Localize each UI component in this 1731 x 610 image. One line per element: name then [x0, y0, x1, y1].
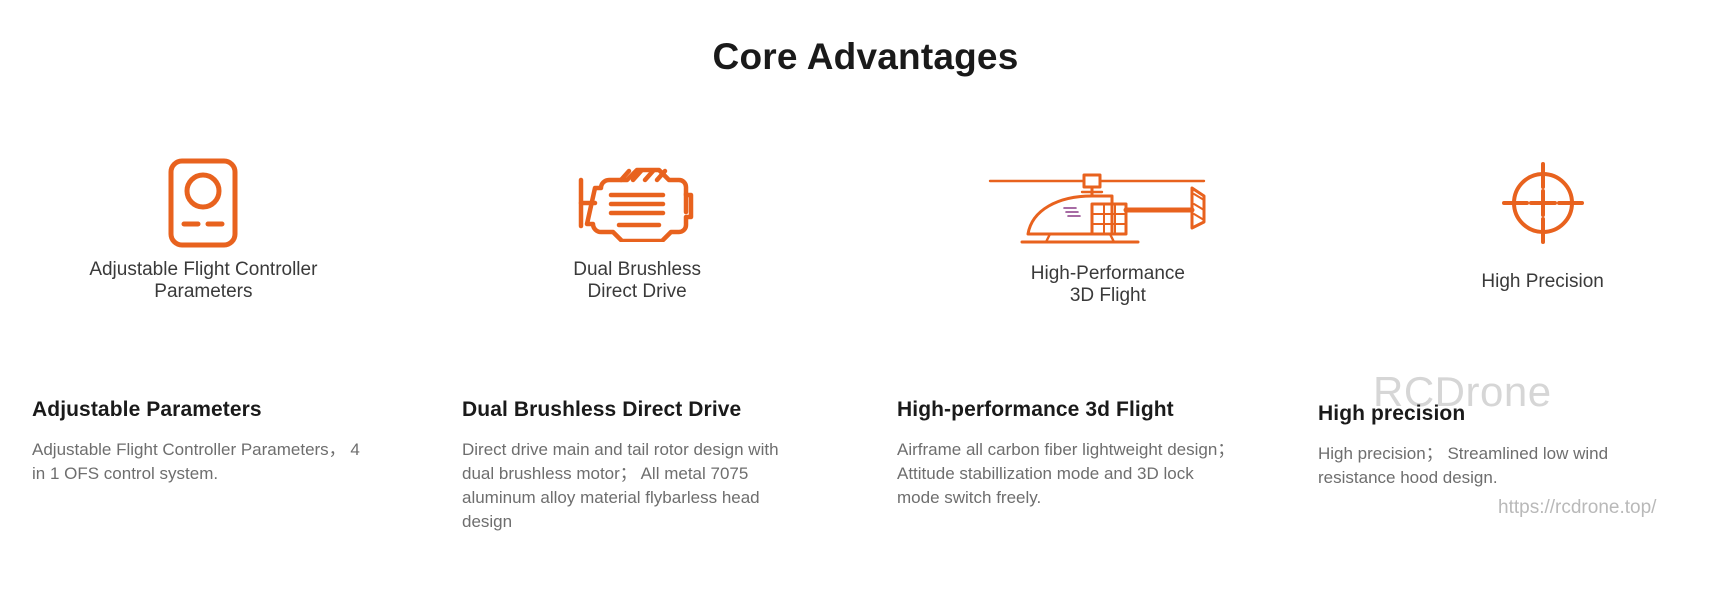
core-advantages-section: Core Advantages Adjustable Flight Contro…: [0, 0, 1731, 610]
icon-cell-high-precision: High Precision: [1326, 160, 1731, 320]
icon-cell-brushless-motor: Dual Brushless Direct Drive: [421, 160, 854, 320]
icon-cell-helicopter: High-Performance 3D Flight: [892, 160, 1325, 320]
feature-title: High precision: [1318, 402, 1668, 426]
feature-high-precision: High precision High precision； Streamlin…: [1296, 398, 1728, 535]
icon-cell-flight-controller: Adjustable Flight Controller Parameters: [0, 160, 420, 320]
feature-adjustable-parameters: Adjustable Parameters Adjustable Flight …: [0, 398, 432, 535]
icon-row: Adjustable Flight Controller Parameters: [0, 160, 1731, 320]
feature-body: High precision； Streamlined low wind res…: [1318, 442, 1668, 490]
feature-title: High-performance 3d Flight: [897, 398, 1236, 422]
feature-title: Dual Brushless Direct Drive: [462, 398, 804, 422]
icon-caption-high-precision: High Precision: [1481, 271, 1604, 293]
feature-title: Adjustable Parameters: [32, 398, 372, 422]
icon-caption-helicopter: High-Performance 3D Flight: [1031, 263, 1185, 307]
feature-body: Adjustable Flight Controller Parameters，…: [32, 438, 372, 486]
feature-high-performance-3d-flight: High-performance 3d Flight Airframe all …: [864, 398, 1296, 535]
helicopter-icon: [988, 160, 1228, 245]
crosshair-target-icon: [1501, 160, 1585, 245]
brushless-motor-icon: [573, 160, 701, 245]
feature-body: Direct drive main and tail rotor design …: [462, 438, 804, 535]
feature-body: Airframe all carbon fiber lightweight de…: [897, 438, 1236, 510]
feature-dual-brushless-direct-drive: Dual Brushless Direct Drive Direct drive…: [432, 398, 864, 535]
icon-caption-brushless-motor: Dual Brushless Direct Drive: [573, 259, 701, 303]
flight-controller-icon: [167, 160, 239, 245]
page-title: Core Advantages: [0, 36, 1731, 78]
icon-caption-flight-controller: Adjustable Flight Controller Parameters: [89, 259, 317, 303]
feature-row: Adjustable Parameters Adjustable Flight …: [0, 398, 1731, 535]
